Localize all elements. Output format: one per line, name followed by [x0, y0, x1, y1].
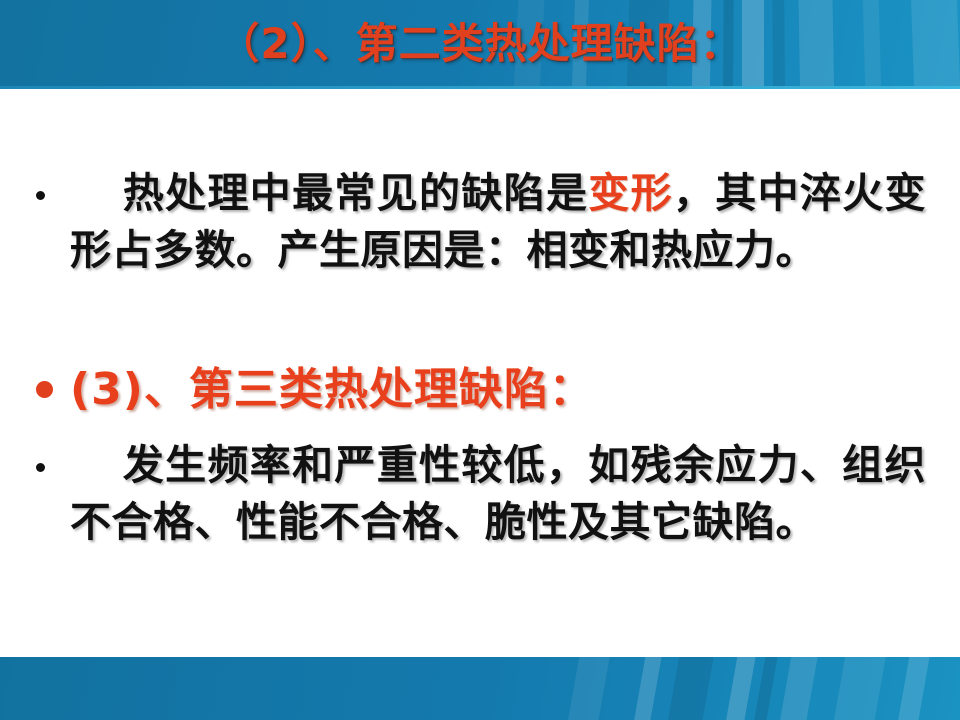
slide-title: （2）、第二类热处理缺陷：	[0, 16, 960, 72]
header-band: （2）、第二类热处理缺陷：	[0, 0, 960, 89]
paragraph-1-text: 热处理中最常见的缺陷是变形，其中淬火变形占多数。产生原因是：相变和热应力。	[70, 165, 926, 279]
bullet-dot-icon	[36, 165, 70, 203]
bullet-item-paragraph-2: 发生频率和严重性较低，如残余应力、组织不合格、性能不合格、脆性及其它缺陷。	[36, 437, 926, 551]
footer-light-rays	[570, 657, 960, 720]
bullet-dot-red-icon	[36, 361, 70, 401]
heading-2-text: (3)、第三类热处理缺陷：	[70, 361, 926, 419]
bullet-item-heading-2: (3)、第三类热处理缺陷：	[36, 361, 926, 419]
slide-content: 热处理中最常见的缺陷是变形，其中淬火变形占多数。产生原因是：相变和热应力。 (3…	[0, 89, 960, 657]
bullet-dot-icon-2	[36, 437, 70, 475]
footer-band	[0, 657, 960, 720]
presentation-slide: （2）、第二类热处理缺陷： 热处理中最常见的缺陷是变形，其中淬火变形占多数。产生…	[0, 0, 960, 720]
bullet-item-paragraph-1: 热处理中最常见的缺陷是变形，其中淬火变形占多数。产生原因是：相变和热应力。	[36, 165, 926, 279]
paragraph-1-text-before: 热处理中最常见的缺陷是	[122, 169, 588, 217]
paragraph-2-body: 发生频率和严重性较低，如残余应力、组织不合格、性能不合格、脆性及其它缺陷。	[70, 441, 926, 546]
paragraph-1-highlight: 变形	[588, 169, 673, 217]
paragraph-2-text: 发生频率和严重性较低，如残余应力、组织不合格、性能不合格、脆性及其它缺陷。	[70, 437, 926, 551]
